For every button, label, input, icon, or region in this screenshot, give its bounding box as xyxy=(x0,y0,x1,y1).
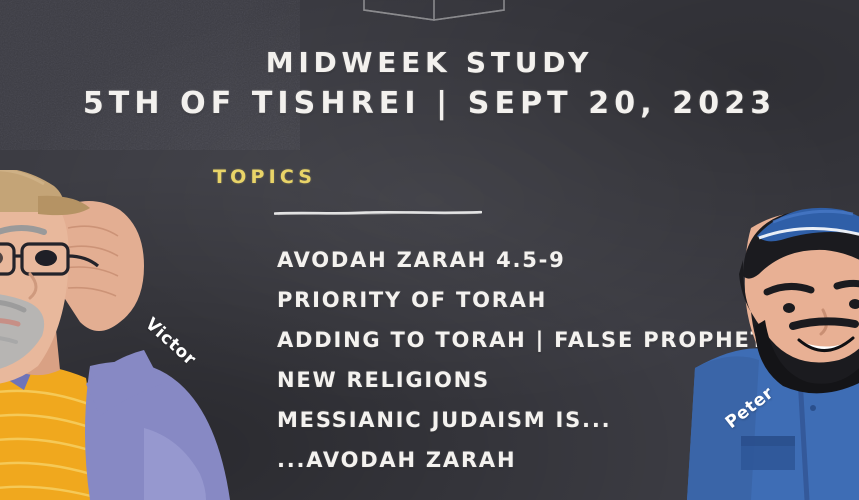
heading-line-1: MIDWEEK STUDY xyxy=(0,46,859,80)
chalk-divider xyxy=(274,210,482,216)
character-peter xyxy=(673,200,859,500)
heading-line-2: 5TH OF TISHREI | SEPT 20, 2023 xyxy=(0,84,859,124)
slide-heading: MIDWEEK STUDY 5TH OF TISHREI | SEPT 20, … xyxy=(0,46,859,124)
chalkboard-slide: MIDWEEK STUDY 5TH OF TISHREI | SEPT 20, … xyxy=(0,0,859,500)
character-victor xyxy=(0,170,244,500)
